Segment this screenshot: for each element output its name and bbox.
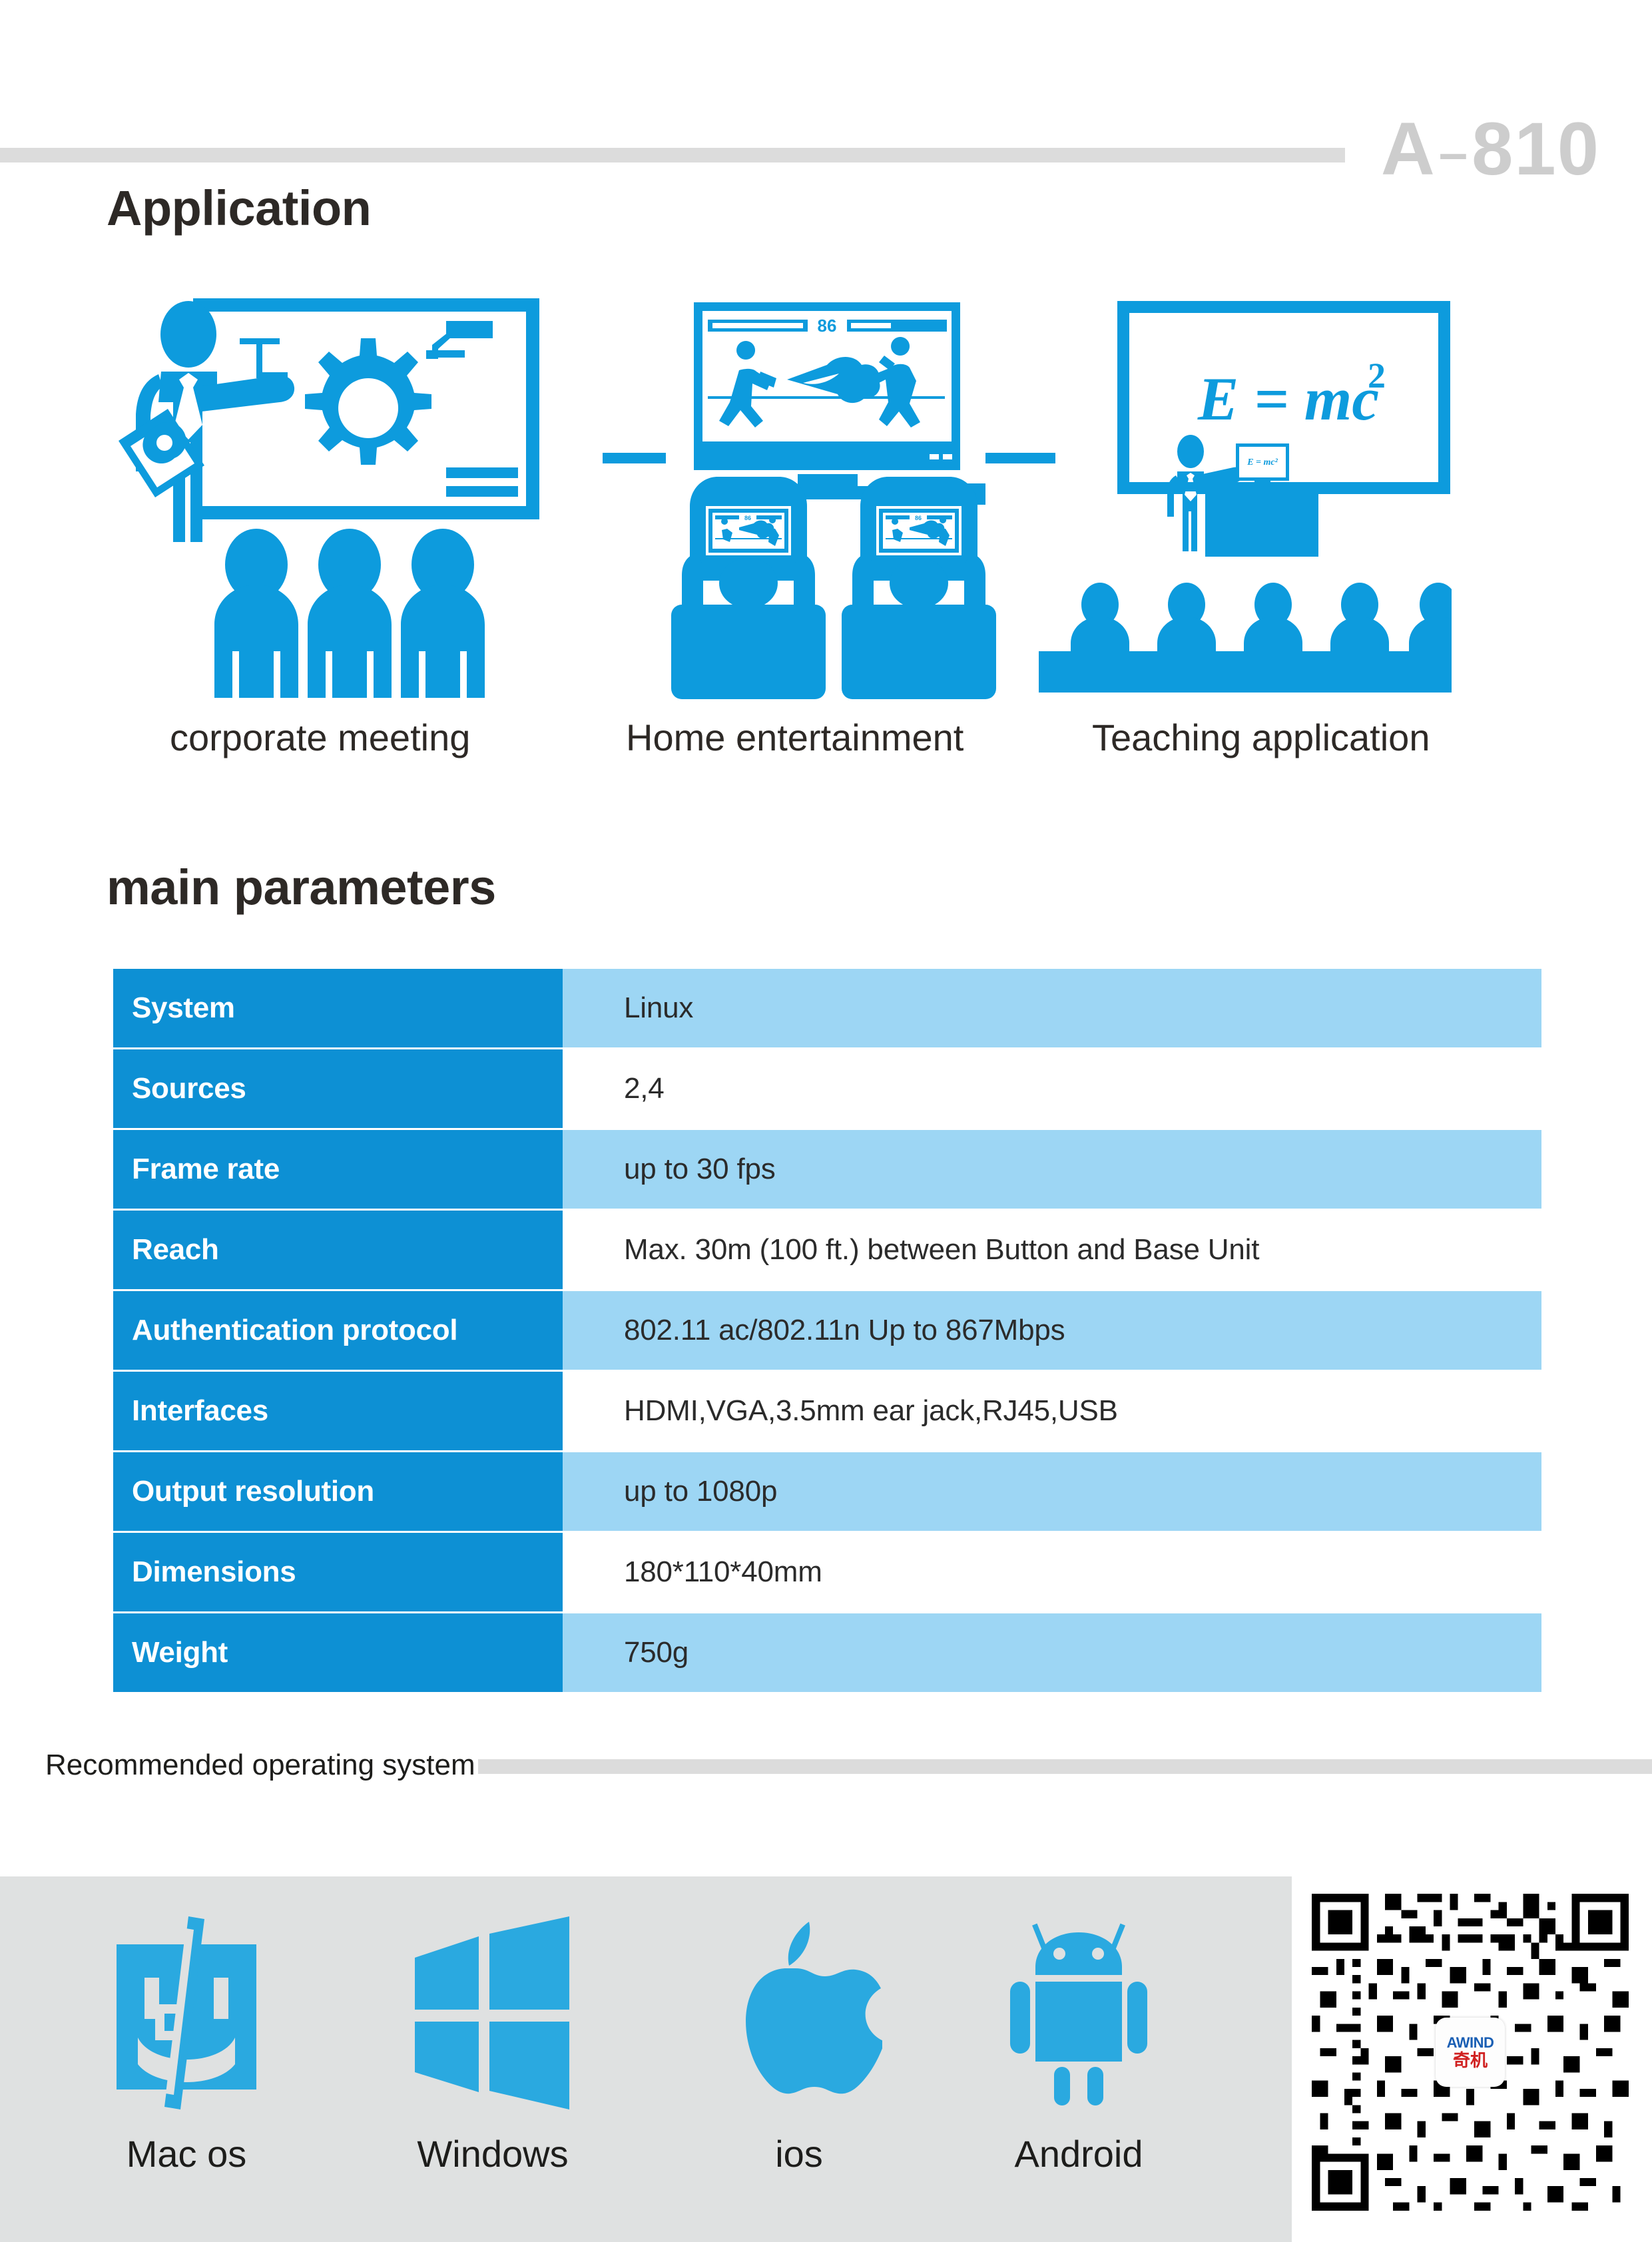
param-label: Reach [113,1211,563,1289]
param-label: Frame rate [113,1130,563,1209]
svg-text:86: 86 [744,515,751,521]
illustration-connector-left [603,453,666,463]
param-value: 802.11 ac/802.11n Up to 867Mbps [563,1291,1541,1370]
param-value: 750g [563,1613,1541,1692]
qr-brand-cn: 奇机 [1453,2052,1488,2070]
os-item-windows: Windows [380,1916,606,2203]
os-label: Windows [417,2132,568,2175]
param-label: Output resolution [113,1452,563,1531]
os-label: Mac os [127,2132,247,2175]
mac-os-icon [103,1916,270,2109]
svg-text:E = mc: E = mc [1197,365,1379,433]
model-code-number: 810 [1472,107,1600,190]
os-label: ios [775,2132,823,2175]
table-row: Interfaces HDMI,VGA,3.5mm ear jack,RJ45,… [113,1372,1541,1450]
os-label: Android [1014,2132,1143,2175]
svg-text:86: 86 [818,316,837,336]
os-item-android: Android [965,1916,1192,2203]
os-item-ios: ios [686,1916,912,2203]
table-row: Output resolution up to 1080p [113,1452,1541,1531]
recommended-os-rule [478,1759,1652,1774]
param-label: System [113,969,563,1047]
teaching-application-icon: E = mc 2 E = mc² [1039,286,1452,699]
qr-center-logo: AWIND 奇机 [1436,2018,1505,2087]
table-row: System Linux [113,969,1541,1047]
table-row: Weight 750g [113,1613,1541,1692]
svg-text:E = mc²: E = mc² [1246,457,1278,467]
param-label: Dimensions [113,1533,563,1611]
caption-teaching-application: Teaching application [1092,716,1430,759]
param-label: Authentication protocol [113,1291,563,1370]
model-code-dash: – [1439,123,1469,182]
table-row: Frame rate up to 30 fps [113,1130,1541,1209]
param-value: up to 1080p [563,1452,1541,1531]
windows-icon [410,1916,576,2109]
operating-systems-panel: Mac os Windows ios [0,1876,1292,2242]
param-value: 180*110*40mm [563,1533,1541,1611]
illustration-connector-right [985,453,1055,463]
param-value: HDMI,VGA,3.5mm ear jack,RJ45,USB [563,1372,1541,1450]
table-row: Reach Max. 30m (100 ft.) between Button … [113,1211,1541,1289]
home-entertainment-icon: 86 [639,286,1012,699]
qr-brand-en: AWIND [1447,2034,1494,2052]
parameters-section-title: main parameters [107,859,496,916]
qr-code: AWIND 奇机 [1304,1886,1637,2219]
application-section-title: Application [107,180,371,236]
svg-text:86: 86 [915,515,922,521]
corporate-meeting-icon [113,286,606,699]
parameters-table: System Linux Sources 2,4 Frame rate up t… [113,969,1541,1692]
param-label: Interfaces [113,1372,563,1450]
application-illustrations: 86 [0,286,1652,699]
os-item-mac: Mac os [73,1916,300,2203]
recommended-os-label: Recommended operating system [45,1749,475,1782]
caption-corporate-meeting: corporate meeting [170,716,470,759]
param-label: Weight [113,1613,563,1692]
param-value: Linux [563,969,1541,1047]
param-value: Max. 30m (100 ft.) between Button and Ba… [563,1211,1541,1289]
table-row: Sources 2,4 [113,1049,1541,1128]
svg-text:2: 2 [1368,356,1386,396]
header-rule [0,148,1345,162]
android-icon [995,1916,1162,2109]
model-code: A–810 [1381,112,1600,186]
model-code-prefix: A [1381,107,1436,190]
param-value: up to 30 fps [563,1130,1541,1209]
caption-home-entertainment: Home entertainment [626,716,964,759]
apple-ios-icon [716,1916,882,2109]
table-row: Authentication protocol 802.11 ac/802.11… [113,1291,1541,1370]
application-captions: corporate meeting Home entertainment Tea… [0,716,1652,769]
param-value: 2,4 [563,1049,1541,1128]
table-row: Dimensions 180*110*40mm [113,1533,1541,1611]
param-label: Sources [113,1049,563,1128]
